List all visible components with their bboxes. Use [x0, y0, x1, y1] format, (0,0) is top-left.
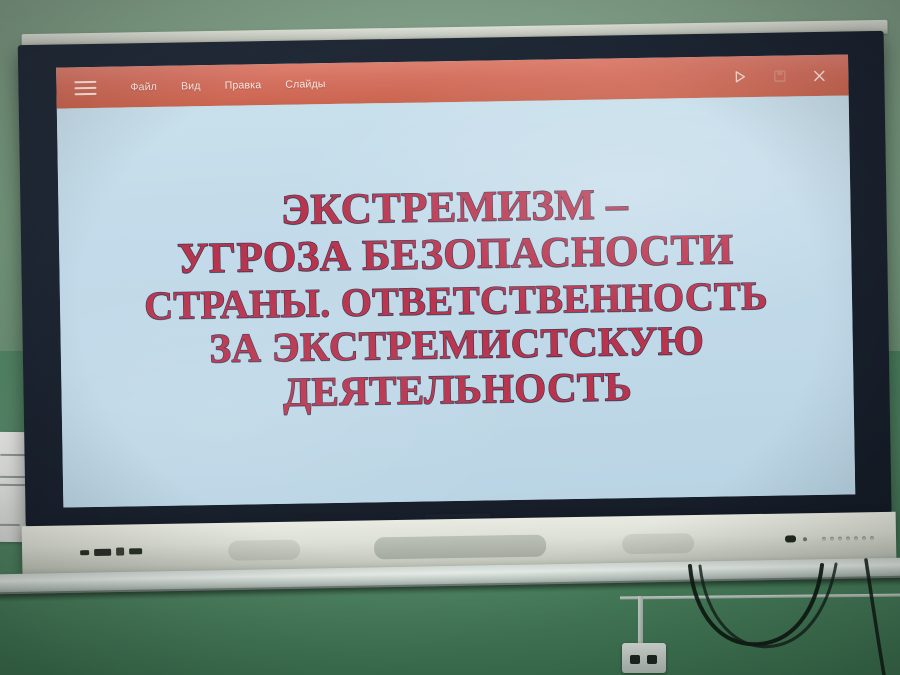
- ir-receiver-icon: [785, 535, 796, 542]
- menu-item-view[interactable]: Вид: [169, 75, 213, 96]
- socket-hole-right: [647, 655, 657, 664]
- save-floppy-icon[interactable]: [770, 67, 788, 85]
- wall-power-outlet[interactable]: [622, 643, 666, 673]
- usb-port-2[interactable]: [129, 548, 142, 554]
- display-screen: Файл Вид Правка Слайды: [56, 54, 855, 507]
- hamburger-menu-icon[interactable]: [74, 80, 96, 94]
- presentation-slide[interactable]: ЭКСТРЕМИЗМ – УГРОЗА БЕЗОПАСНОСТИ СТРАНЫ.…: [57, 95, 856, 507]
- menu-bar: Файл Вид Правка Слайды: [118, 73, 338, 97]
- toolbar-spacer: [338, 77, 731, 84]
- side-ports-group[interactable]: [80, 547, 142, 556]
- display-bezel-frame: Файл Вид Правка Слайды: [18, 31, 892, 527]
- usb-port[interactable]: [80, 550, 89, 555]
- speaker-grille-left: [228, 540, 300, 561]
- menu-item-edit[interactable]: Правка: [212, 74, 273, 95]
- speaker-grille-right: [622, 533, 694, 554]
- vent-holes: [822, 536, 874, 541]
- speaker-grille-center: [374, 535, 546, 560]
- hdmi-port[interactable]: [94, 548, 111, 555]
- slide-title: ЭКСТРЕМИЗМ – УГРОЗА БЕЗОПАСНОСТИ СТРАНЫ.…: [74, 179, 838, 418]
- play-icon[interactable]: [730, 68, 748, 86]
- square-port[interactable]: [116, 548, 124, 556]
- toolbar-actions: [730, 66, 828, 86]
- power-led-indicator: [803, 537, 807, 541]
- bezel-right-controls: [785, 534, 874, 542]
- socket-hole-left: [630, 655, 640, 664]
- menu-item-slides[interactable]: Слайды: [273, 73, 338, 94]
- interactive-display: Файл Вид Правка Слайды: [18, 20, 893, 579]
- wall-trim-vertical: [638, 596, 643, 646]
- close-x-icon[interactable]: [810, 66, 828, 84]
- screenshot-root: Файл Вид Правка Слайды: [0, 0, 900, 675]
- menu-item-file[interactable]: Файл: [118, 76, 169, 97]
